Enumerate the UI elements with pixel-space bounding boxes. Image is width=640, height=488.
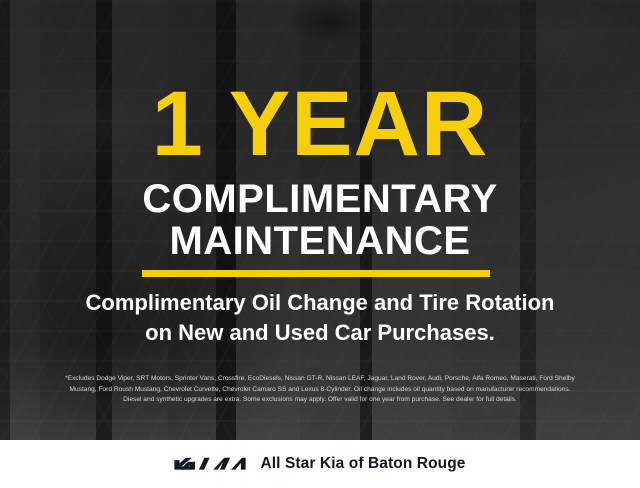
hero-section: 1 YEAR COMPLIMENTARY MAINTENANCE Complim… [0,0,640,440]
footer-bar: All Star Kia of Baton Rouge [0,440,640,488]
hero-content: 1 YEAR COMPLIMENTARY MAINTENANCE Complim… [0,0,640,440]
headline-year: 1 YEAR [0,78,640,170]
subheadline-line-2: MAINTENANCE [0,220,640,262]
disclaimer-text: *Excludes Dodge Viper, SRT Motors, Sprin… [18,374,622,406]
yellow-divider-bar [142,270,490,277]
headline-subheadline: COMPLIMENTARY MAINTENANCE [0,178,640,262]
disclaimer-line-1: *Excludes Dodge Viper, SRT Motors, Sprin… [18,374,622,385]
disclaimer-line-3: Diesel and synthetic upgrades are extra.… [18,395,622,406]
offer-description: Complimentary Oil Change and Tire Rotati… [0,288,640,348]
subheadline-line-1: COMPLIMENTARY [142,177,497,221]
offer-line-2: on New and Used Car Purchases. [0,318,640,348]
disclaimer-line-2: Mustang, Ford Roush Mustang, Chevrolet C… [18,385,622,396]
offer-line-1: Complimentary Oil Change and Tire Rotati… [86,290,555,315]
dealer-name-label: All Star Kia of Baton Rouge [260,455,465,473]
kia-logo-icon [174,455,246,474]
promotional-banner: 1 YEAR COMPLIMENTARY MAINTENANCE Complim… [0,0,640,488]
